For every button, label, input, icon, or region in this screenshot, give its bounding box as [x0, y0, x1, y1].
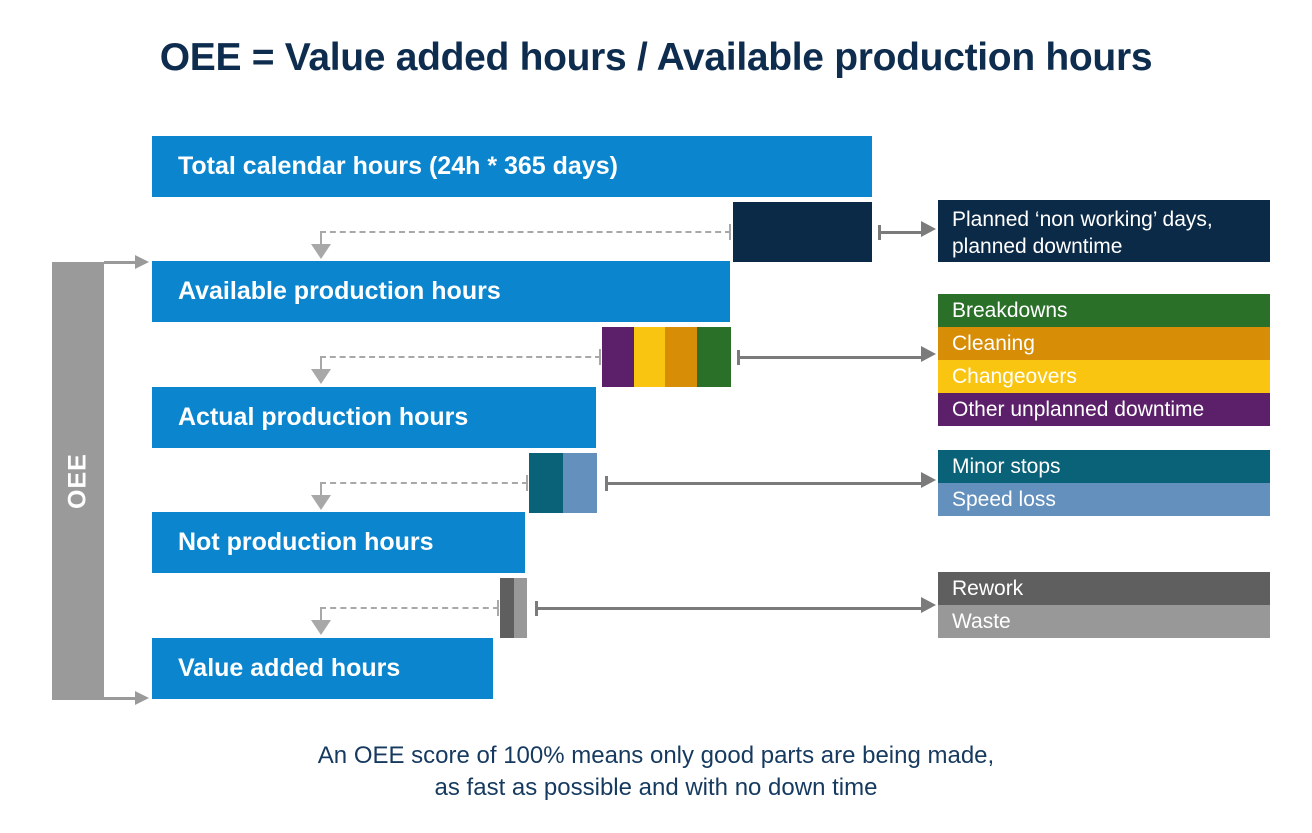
- legend-item-planned-downtime[interactable]: Planned 'non working' days, planned down…: [938, 200, 1270, 262]
- legend-group-quality: Rework Waste: [938, 572, 1270, 638]
- loss-segment-waste: [514, 578, 527, 638]
- legend-item-changeovers[interactable]: Changeovers: [938, 360, 1270, 393]
- legend-label: Minor stops: [952, 455, 1061, 479]
- bar-label: Available production hours: [152, 277, 501, 306]
- loss-segment-cleaning: [665, 327, 697, 387]
- legend-item-other-unplanned-downtime[interactable]: Other unplanned downtime: [938, 393, 1270, 426]
- bar-label: Not production hours: [152, 528, 434, 557]
- connector-dashed-4: [320, 591, 503, 631]
- loss-segment-rework: [500, 578, 514, 638]
- bar-label: Value added hours: [152, 654, 400, 683]
- connector-dashed-3: [320, 466, 532, 506]
- legend-label: Cleaning: [952, 332, 1035, 356]
- legend-item-breakdowns[interactable]: Breakdowns: [938, 294, 1270, 327]
- oee-bracket-arrow-bottom: [104, 697, 136, 700]
- bar-actual-production-hours[interactable]: Actual production hours: [152, 387, 596, 448]
- bar-label: Total calendar hours (24h * 365 days): [152, 152, 618, 181]
- loss-segment-changeovers: [634, 327, 665, 387]
- legend-label: Planned ‘non working’ days,planned downt…: [952, 208, 1213, 258]
- connector-arrow-quality: [535, 599, 937, 619]
- bar-label: Actual production hours: [152, 403, 468, 432]
- legend-group-performance: Minor stops Speed loss: [938, 450, 1270, 516]
- loss-bar-planned[interactable]: [733, 202, 872, 262]
- page-title: OEE = Value added hours / Available prod…: [0, 36, 1312, 80]
- oee-bracket-label: OEE: [52, 262, 104, 700]
- legend-label: Breakdowns: [952, 299, 1068, 323]
- legend-item-minor-stops[interactable]: Minor stops: [938, 450, 1270, 483]
- legend-item-waste[interactable]: Waste: [938, 605, 1270, 638]
- legend-item-cleaning[interactable]: Cleaning: [938, 327, 1270, 360]
- connector-arrow-availability: [737, 348, 937, 368]
- legend-group-availability: Breakdowns Cleaning Changeovers Other un…: [938, 294, 1270, 426]
- connector-dashed-1: [320, 215, 735, 255]
- oee-diagram: OEE = Value added hours / Available prod…: [0, 0, 1312, 833]
- legend-item-rework[interactable]: Rework: [938, 572, 1270, 605]
- caption-line-1: An OEE score of 100% means only good par…: [0, 740, 1312, 772]
- bar-available-production-hours[interactable]: Available production hours: [152, 261, 730, 322]
- loss-bar-availability[interactable]: [602, 327, 731, 387]
- legend-label: Other unplanned downtime: [952, 398, 1204, 422]
- caption: An OEE score of 100% means only good par…: [0, 740, 1312, 804]
- bar-total-calendar-hours[interactable]: Total calendar hours (24h * 365 days): [152, 136, 872, 197]
- legend-label: Changeovers: [952, 365, 1077, 389]
- oee-bracket: OEE: [52, 262, 104, 700]
- bar-value-added-hours[interactable]: Value added hours: [152, 638, 493, 699]
- loss-segment-speed-loss: [563, 453, 597, 513]
- loss-bar-quality[interactable]: [500, 578, 527, 638]
- oee-bracket-arrow-top: [104, 261, 136, 264]
- legend-label: Waste: [952, 610, 1011, 634]
- legend-group-planned: Planned 'non working' days, planned down…: [938, 200, 1270, 262]
- loss-segment-other-unplanned-downtime: [602, 327, 634, 387]
- loss-segment-minor-stops: [529, 453, 563, 513]
- legend-label: Speed loss: [952, 488, 1056, 512]
- loss-bar-performance[interactable]: [529, 453, 597, 513]
- connector-dashed-2: [320, 340, 605, 380]
- caption-line-2: as fast as possible and with no down tim…: [0, 772, 1312, 804]
- loss-segment-planned-downtime: [733, 202, 872, 262]
- bar-not-production-hours[interactable]: Not production hours: [152, 512, 525, 573]
- connector-arrow-performance: [605, 474, 937, 494]
- legend-item-speed-loss[interactable]: Speed loss: [938, 483, 1270, 516]
- loss-segment-breakdowns: [697, 327, 731, 387]
- legend-label: Rework: [952, 577, 1023, 601]
- connector-arrow-planned: [878, 223, 936, 243]
